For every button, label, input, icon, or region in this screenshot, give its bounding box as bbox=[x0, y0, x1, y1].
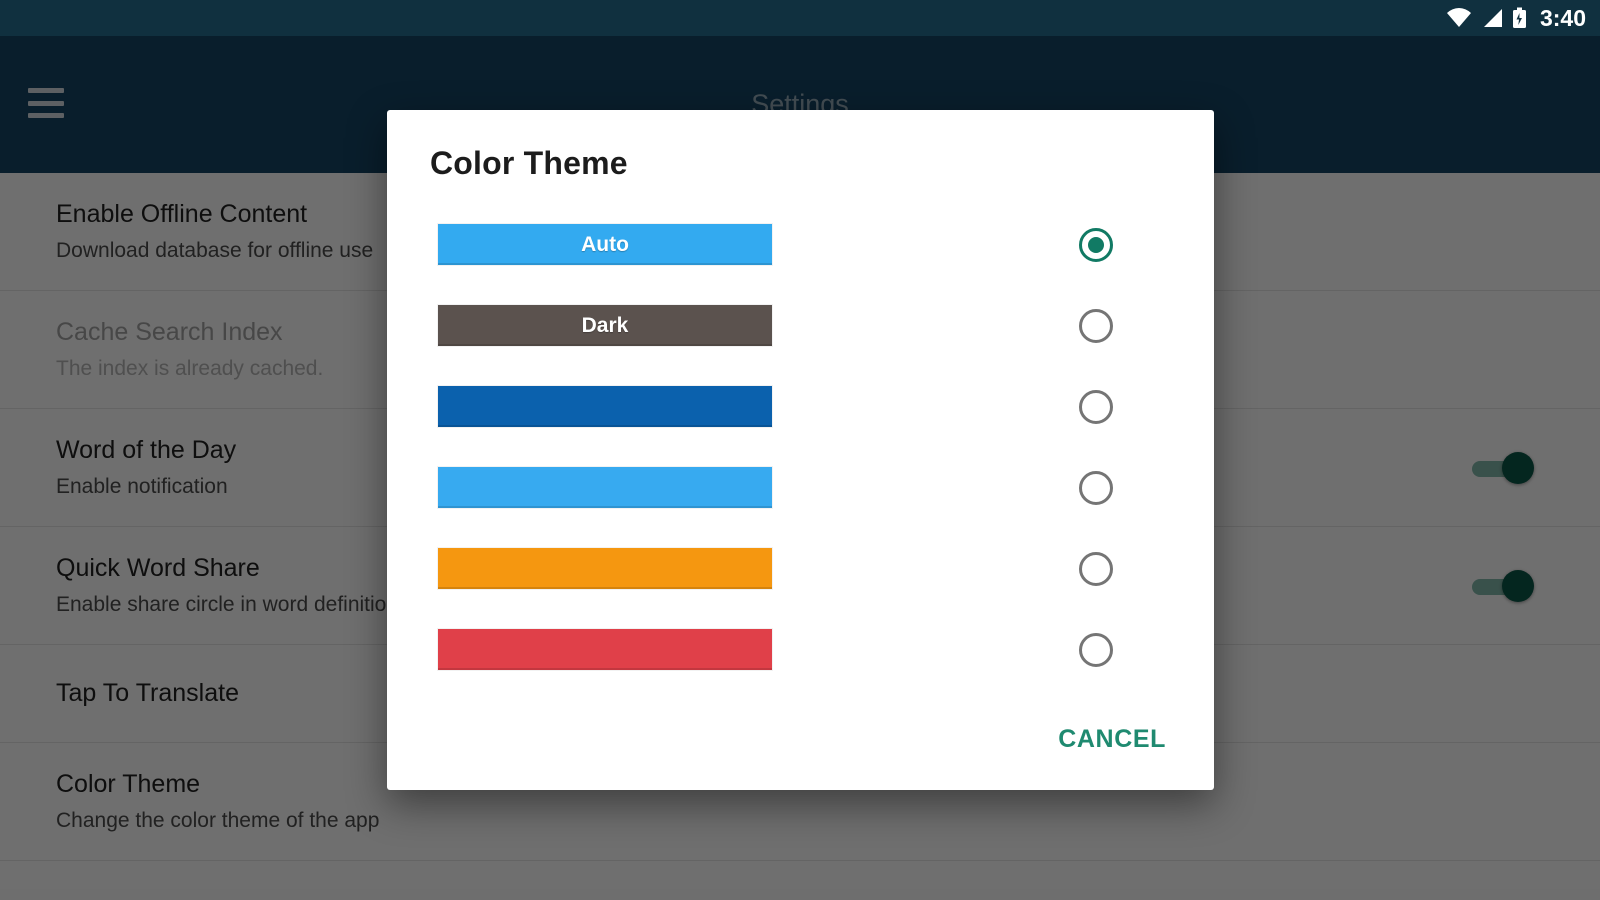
theme-swatch-label: Dark bbox=[582, 314, 629, 338]
radio-button[interactable] bbox=[1079, 471, 1113, 505]
theme-color-swatch[interactable]: Dark bbox=[438, 305, 772, 346]
theme-option[interactable] bbox=[387, 528, 1214, 609]
theme-option[interactable]: Auto bbox=[387, 204, 1214, 285]
dialog-actions: CANCEL bbox=[1044, 715, 1180, 764]
cellular-signal-icon bbox=[1481, 8, 1503, 28]
cancel-button[interactable]: CANCEL bbox=[1044, 715, 1180, 764]
radio-button[interactable] bbox=[1079, 552, 1113, 586]
battery-icon bbox=[1512, 7, 1527, 29]
radio-button[interactable] bbox=[1079, 633, 1113, 667]
theme-color-swatch[interactable] bbox=[438, 629, 772, 670]
theme-color-swatch[interactable] bbox=[438, 386, 772, 427]
theme-swatch-label: Auto bbox=[581, 233, 629, 257]
radio-button[interactable] bbox=[1079, 390, 1113, 424]
status-icons: 3:40 bbox=[1446, 5, 1586, 32]
color-theme-dialog: Color Theme AutoDark CANCEL bbox=[387, 110, 1214, 790]
radio-button[interactable] bbox=[1079, 309, 1113, 343]
theme-color-swatch[interactable]: Auto bbox=[438, 224, 772, 265]
status-bar-clock: 3:40 bbox=[1540, 5, 1586, 32]
theme-option-list: AutoDark bbox=[387, 204, 1214, 690]
dialog-title: Color Theme bbox=[430, 145, 628, 182]
android-screen: 3:40 Settings Enable Offline ContentDown… bbox=[0, 0, 1600, 900]
status-bar: 3:40 bbox=[0, 0, 1600, 36]
wifi-icon bbox=[1446, 8, 1472, 28]
theme-option[interactable] bbox=[387, 609, 1214, 690]
theme-option[interactable]: Dark bbox=[387, 285, 1214, 366]
theme-option[interactable] bbox=[387, 366, 1214, 447]
theme-option[interactable] bbox=[387, 447, 1214, 528]
theme-color-swatch[interactable] bbox=[438, 467, 772, 508]
theme-color-swatch[interactable] bbox=[438, 548, 772, 589]
radio-button-selected[interactable] bbox=[1079, 228, 1113, 262]
